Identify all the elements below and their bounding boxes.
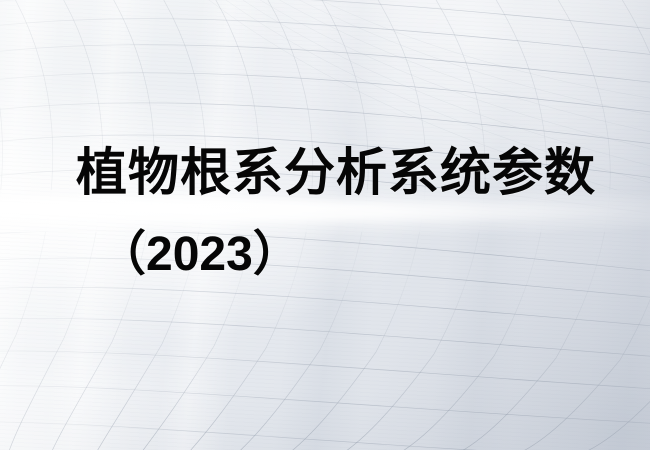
title-block: 植物根系分析系统参数 （2023） xyxy=(0,0,650,450)
page-title: 植物根系分析系统参数 xyxy=(76,143,596,203)
title-slide: 植物根系分析系统参数 （2023） xyxy=(0,0,650,450)
page-subtitle-year: （2023） xyxy=(98,226,301,284)
